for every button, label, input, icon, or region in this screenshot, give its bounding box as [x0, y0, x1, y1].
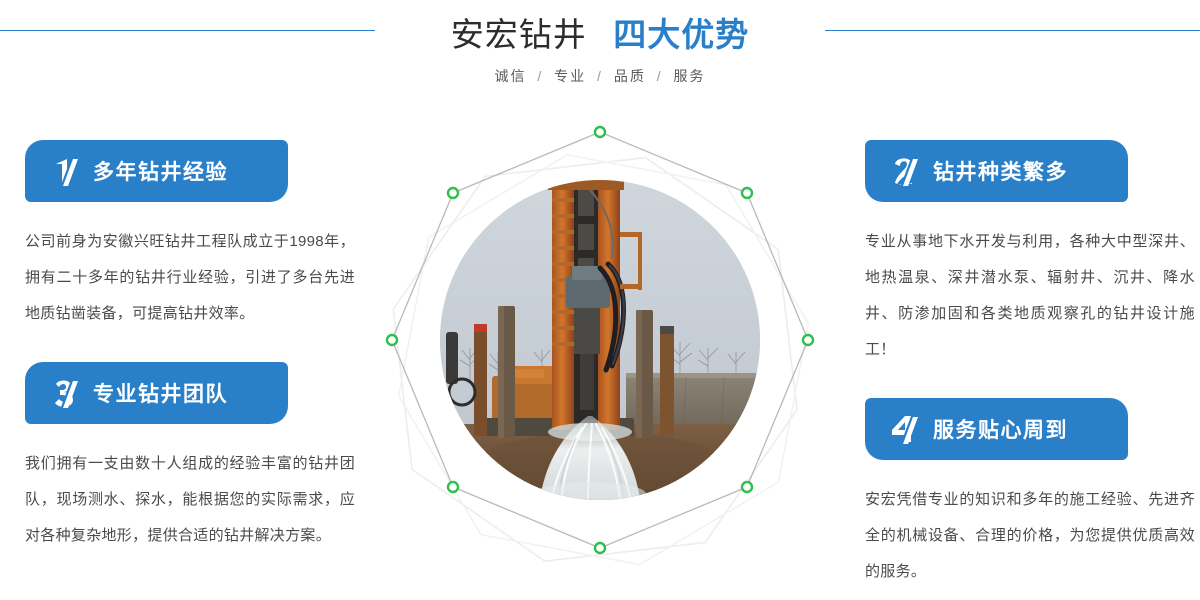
feature-badge-1[interactable]: 多年钻井经验: [25, 140, 288, 202]
subtitle-item-3: 服务: [674, 68, 706, 84]
subtitle-item-2: 品质: [614, 68, 646, 84]
features-column-left: 多年钻井经验 公司前身为安徽兴旺钻井工程队成立于1998年，拥有二十多年的钻井行…: [25, 140, 360, 554]
features-column-right: 钻井种类繁多 专业从事地下水开发与利用，各种大中型深井、地热温泉、深井潜水泵、辐…: [865, 140, 1200, 590]
number-two-icon: [887, 151, 927, 191]
feature-badge-3[interactable]: 专业钻井团队: [25, 362, 288, 424]
feature-card-3: 专业钻井团队 我们拥有一支由数十人组成的经验丰富的钻井团队，现场测水、探水，能根…: [25, 362, 360, 554]
page-title: 安宏钻井 四大优势: [0, 8, 1200, 56]
feature-body-1: 公司前身为安徽兴旺钻井工程队成立于1998年，拥有二十多年的钻井行业经验，引进了…: [25, 224, 355, 332]
subtitle-item-0: 诚信: [494, 68, 526, 84]
subtitle-separator-0: /: [537, 68, 543, 84]
feature-badge-4[interactable]: 服务贴心周到: [865, 398, 1128, 460]
subtitle-item-1: 专业: [554, 68, 586, 84]
number-four-icon: [887, 409, 927, 449]
subtitle-separator-2: /: [657, 68, 663, 84]
subtitle-separator-1: /: [597, 68, 603, 84]
feature-title-2: 钻井种类繁多: [933, 156, 1068, 186]
page-header: 安宏钻井 四大优势 诚信 / 专业 / 品质 / 服务: [0, 0, 1200, 110]
feature-badge-2[interactable]: 钻井种类繁多: [865, 140, 1128, 202]
page-title-accent: 四大优势: [613, 16, 749, 53]
page-title-main: 安宏钻井: [451, 16, 587, 53]
feature-card-1: 多年钻井经验 公司前身为安徽兴旺钻井工程队成立于1998年，拥有二十多年的钻井行…: [25, 140, 360, 332]
feature-body-4: 安宏凭借专业的知识和多年的施工经验、先进齐全的机械设备、合理的价格，为您提供优质…: [865, 482, 1195, 590]
feature-card-2: 钻井种类繁多 专业从事地下水开发与利用，各种大中型深井、地热温泉、深井潜水泵、辐…: [865, 140, 1200, 368]
number-one-icon: [47, 151, 87, 191]
feature-title-3: 专业钻井团队: [93, 378, 228, 408]
feature-title-4: 服务贴心周到: [933, 414, 1068, 444]
drilling-rig-photo: [440, 180, 760, 500]
feature-card-4: 服务贴心周到 安宏凭借专业的知识和多年的施工经验、先进齐全的机械设备、合理的价格…: [865, 398, 1200, 590]
feature-body-3: 我们拥有一支由数十人组成的经验丰富的钻井团队，现场测水、探水，能根据您的实际需求…: [25, 446, 355, 554]
page-subtitle: 诚信 / 专业 / 品质 / 服务: [0, 66, 1200, 86]
feature-body-2: 专业从事地下水开发与利用，各种大中型深井、地热温泉、深井潜水泵、辐射井、沉井、降…: [865, 224, 1195, 368]
center-graphic: [370, 110, 830, 570]
number-three-icon: [47, 373, 87, 413]
advantages-page: 安宏钻井 四大优势 诚信 / 专业 / 品质 / 服务: [0, 0, 1200, 600]
feature-title-1: 多年钻井经验: [93, 156, 228, 186]
